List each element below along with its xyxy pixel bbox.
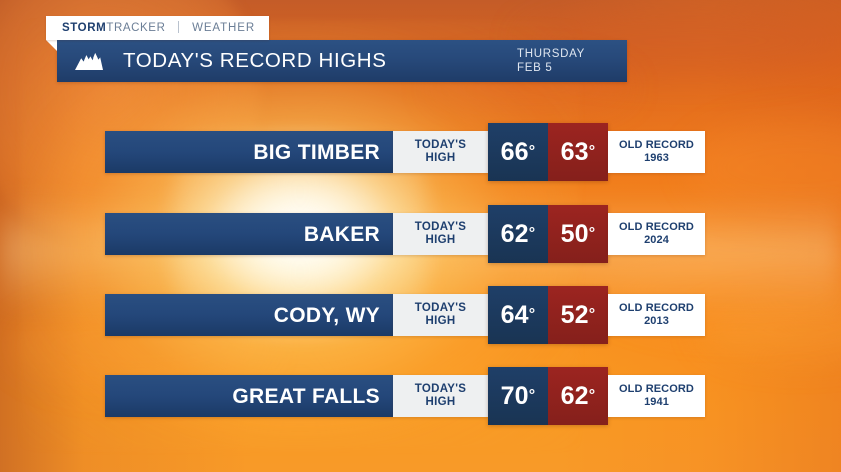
city-name-bar: BIG TIMBER: [105, 131, 393, 173]
logo-weather-text: WEATHER: [192, 22, 255, 34]
city-name-bar: BAKER: [105, 213, 393, 255]
old-record-panel: OLD RECORD 2013: [608, 294, 705, 336]
table-row: CODY, WY TODAY'S HIGH 64° 52° OLD RECORD…: [105, 294, 705, 336]
logo-tracker-text: TRACKER: [106, 22, 165, 34]
mountain-icon: [67, 40, 111, 82]
todays-high-label-line1: TODAY'S: [415, 383, 467, 396]
logo-storm-text: STORM: [62, 22, 106, 34]
city-name: BAKER: [304, 224, 380, 245]
todays-high-value: 66°: [488, 123, 548, 181]
old-record-label: OLD RECORD: [619, 383, 694, 396]
todays-high-label-line1: TODAY'S: [415, 139, 467, 152]
temperature-pair: 62° 50°: [488, 205, 608, 263]
degree-symbol: °: [589, 388, 596, 404]
todays-high-label-line2: HIGH: [426, 234, 456, 247]
city-name: GREAT FALLS: [232, 386, 380, 407]
old-record-year: 2013: [644, 315, 669, 328]
city-name: BIG TIMBER: [253, 142, 380, 163]
degree-symbol: °: [529, 226, 536, 242]
station-logo-tab: STORMTRACKER WEATHER: [46, 16, 269, 40]
old-record-panel: OLD RECORD 2024: [608, 213, 705, 255]
old-record-label: OLD RECORD: [619, 139, 694, 152]
todays-high-label: TODAY'S HIGH: [393, 131, 488, 173]
todays-high-label-line1: TODAY'S: [415, 302, 467, 315]
todays-high-number: 62: [501, 222, 529, 247]
header-date-day: THURSDAY: [517, 48, 585, 60]
record-high-number: 52: [561, 303, 589, 328]
degree-symbol: °: [529, 307, 536, 323]
table-row: BAKER TODAY'S HIGH 62° 50° OLD RECORD 20…: [105, 213, 705, 255]
header-bar: TODAY'S RECORD HIGHS THURSDAY FEB 5: [57, 40, 627, 82]
todays-high-value: 64°: [488, 286, 548, 344]
record-high-number: 63: [561, 140, 589, 165]
city-name: CODY, WY: [274, 305, 380, 326]
temperature-pair: 70° 62°: [488, 367, 608, 425]
old-record-year: 2024: [644, 234, 669, 247]
degree-symbol: °: [589, 144, 596, 160]
old-record-label: OLD RECORD: [619, 302, 694, 315]
record-high-value: 62°: [548, 367, 608, 425]
todays-high-value: 70°: [488, 367, 548, 425]
old-record-panel: OLD RECORD 1963: [608, 131, 705, 173]
degree-symbol: °: [589, 226, 596, 242]
table-row: BIG TIMBER TODAY'S HIGH 66° 63° OLD RECO…: [105, 131, 705, 173]
table-row: GREAT FALLS TODAY'S HIGH 70° 62° OLD REC…: [105, 375, 705, 417]
todays-high-label-line1: TODAY'S: [415, 221, 467, 234]
old-record-year: 1963: [644, 152, 669, 165]
todays-high-number: 66: [501, 140, 529, 165]
city-name-bar: CODY, WY: [105, 294, 393, 336]
header-date-date: FEB 5: [517, 62, 552, 74]
todays-high-label-line2: HIGH: [426, 396, 456, 409]
temperature-pair: 66° 63°: [488, 123, 608, 181]
todays-high-label-line2: HIGH: [426, 315, 456, 328]
old-record-label: OLD RECORD: [619, 221, 694, 234]
todays-high-label: TODAY'S HIGH: [393, 213, 488, 255]
todays-high-label: TODAY'S HIGH: [393, 294, 488, 336]
todays-high-number: 64: [501, 303, 529, 328]
todays-high-number: 70: [501, 384, 529, 409]
temperature-pair: 64° 52°: [488, 286, 608, 344]
record-high-number: 62: [561, 384, 589, 409]
todays-high-label: TODAY'S HIGH: [393, 375, 488, 417]
todays-high-value: 62°: [488, 205, 548, 263]
degree-symbol: °: [589, 307, 596, 323]
todays-high-label-line2: HIGH: [426, 152, 456, 165]
old-record-panel: OLD RECORD 1941: [608, 375, 705, 417]
record-high-number: 50: [561, 222, 589, 247]
header-date: THURSDAY FEB 5: [517, 47, 585, 76]
weather-graphic-stage: STORMTRACKER WEATHER TODAY'S RECORD HIGH…: [0, 0, 841, 472]
logo-divider: [178, 21, 179, 33]
page-title: TODAY'S RECORD HIGHS: [123, 51, 386, 72]
record-high-value: 50°: [548, 205, 608, 263]
old-record-year: 1941: [644, 396, 669, 409]
degree-symbol: °: [529, 388, 536, 404]
degree-symbol: °: [529, 144, 536, 160]
city-name-bar: GREAT FALLS: [105, 375, 393, 417]
record-high-value: 52°: [548, 286, 608, 344]
record-high-value: 63°: [548, 123, 608, 181]
